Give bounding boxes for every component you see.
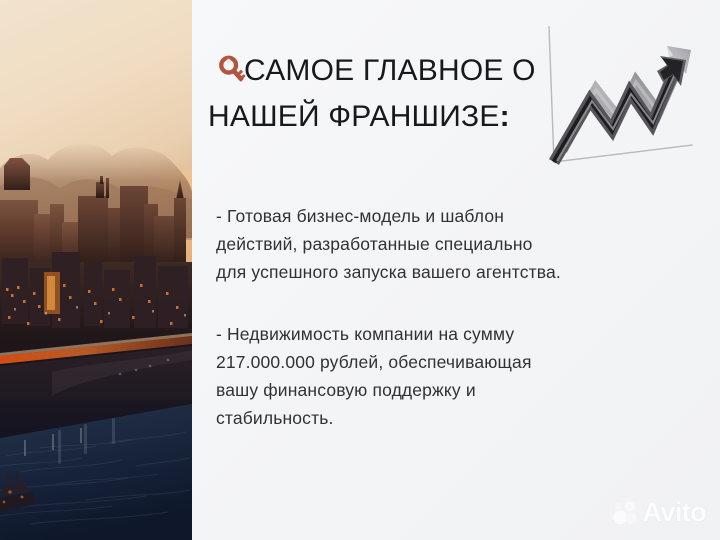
key-icon (216, 53, 250, 87)
key-icon-glyph (216, 53, 250, 87)
real-estate-bullet: - Недвижимость компании на сумму 217.000… (216, 320, 696, 432)
growth-arrow-chart-glyph (540, 20, 700, 180)
avito-logo-text: Avito (643, 499, 707, 526)
city-skyline-illustration (0, 0, 192, 540)
avito-watermark: Avito (612, 499, 707, 526)
page-title: САМОЕ ГЛАВНОЕ О НАШЕЙ ФРАНШИЗЕ: (208, 48, 538, 140)
business-model-bullet: - Готовая бизнес-модель и шаблон действи… (216, 202, 696, 286)
page-title-line-1: САМОЕ ГЛАВНОЕ О (208, 48, 538, 94)
page-title-line-2-text: НАШЕЙ ФРАНШИЗЕ (208, 100, 500, 133)
chart-arrow-front (554, 56, 686, 162)
bullet-2-line-4: стабильность. (216, 404, 696, 432)
bullet-2-line-2: 217.000.000 рублей, обеспечивающая (216, 348, 696, 376)
bullet-2-line-1: - Недвижимость компании на сумму (216, 320, 696, 348)
slide-canvas: САМОЕ ГЛАВНОЕ О НАШЕЙ ФРАНШИЗЕ: (0, 0, 720, 540)
city-skyline-photo (0, 0, 192, 540)
avito-logo-icon (612, 500, 638, 526)
growth-arrow-chart-icon (540, 20, 700, 180)
bullet-1-line-2: действий, разработанные специально (216, 230, 696, 258)
bullet-1-line-3: для успешного запуска вашего агентства. (216, 258, 696, 286)
bullet-1-line-1: - Готовая бизнес-модель и шаблон (216, 202, 696, 230)
page-title-line-2: НАШЕЙ ФРАНШИЗЕ: (208, 94, 538, 140)
page-title-colon: : (500, 100, 510, 133)
body-text: - Готовая бизнес-модель и шаблон действи… (216, 202, 696, 432)
bullet-2-line-3: вашу финансовую поддержку и (216, 376, 696, 404)
content-panel: САМОЕ ГЛАВНОЕ О НАШЕЙ ФРАНШИЗЕ: (192, 0, 720, 540)
